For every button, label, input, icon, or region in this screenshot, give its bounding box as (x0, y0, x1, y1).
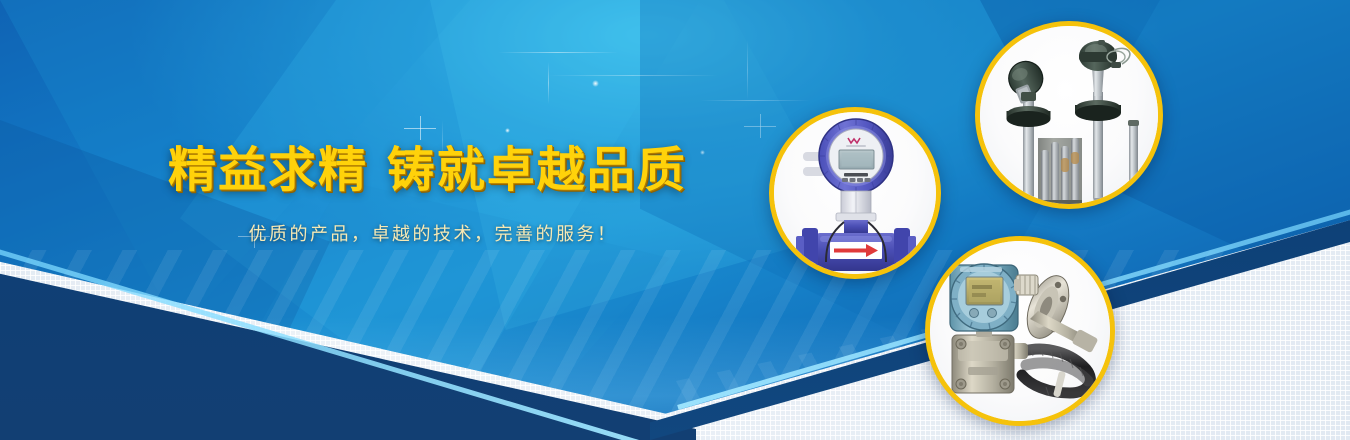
product-photo-differential-pressure-transmitter (930, 241, 1110, 421)
product-photo-temperature-sensor-probes (980, 26, 1158, 204)
pressure-transmitter-illustration (930, 241, 1110, 421)
line-accent (700, 100, 810, 101)
product-circle-temperature-sensor-probes[interactable]: 热电偶温度传感器 (975, 21, 1163, 209)
sparkle-dot-icon (505, 128, 510, 133)
sparkle-dot-icon (700, 150, 705, 155)
headline-block: 精益求精 铸就卓越品质 优质的产品，卓越的技术，完善的服务！ (168, 144, 698, 246)
sparkle-icon (760, 126, 761, 127)
product-circle-differential-pressure-transmitter[interactable]: 差压变送器 (925, 236, 1115, 426)
electromagnetic-flowmeter-illustration (774, 112, 936, 274)
product-photo-electromagnetic-flowmeter (774, 112, 936, 274)
line-accent (548, 75, 718, 76)
sparkle-icon (420, 128, 421, 129)
page-subtitle: 优质的产品，卓越的技术，完善的服务！ (168, 220, 698, 246)
line-accent (548, 62, 549, 104)
line-accent (498, 52, 618, 53)
line-accent (747, 40, 748, 100)
promo-banner: 精益求精 铸就卓越品质 优质的产品，卓越的技术，完善的服务！ (0, 0, 1350, 440)
sparkle-dot-icon (592, 80, 599, 87)
temperature-sensor-illustration (980, 26, 1158, 204)
page-title: 精益求精 铸就卓越品质 (168, 144, 698, 198)
product-circle-electromagnetic-flowmeter[interactable]: 电磁流量计 (769, 107, 941, 279)
